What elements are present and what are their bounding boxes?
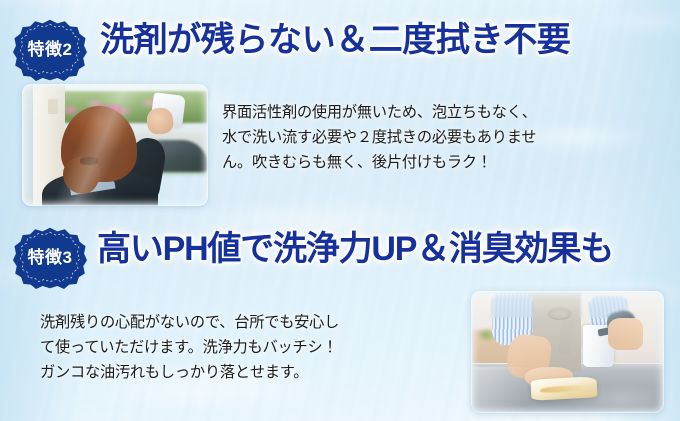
photo2-depth-blur	[471, 291, 664, 318]
kitchen-cleaning-photo	[471, 291, 664, 413]
feature-section-3: 特徴3 高いPH値で洗浄力UP＆消臭効果も 洗剤残りの心配がないので、台所でも安…	[0, 0, 680, 421]
photo2-right-arm	[608, 318, 643, 350]
feature-badge-2-label: 特徴2	[28, 41, 73, 58]
feature-badge-3: 特徴3	[13, 227, 87, 289]
feature-3-headline: 高いPH値で洗浄力UP＆消臭効果も	[97, 232, 613, 266]
photo2-counter-sheen	[471, 367, 664, 413]
feature-badge-3-label: 特徴3	[28, 249, 73, 266]
feature-poster: 特徴2 洗剤が残らない＆二度拭き不要 界面活性剤の使用が無いため、泡立ちもなく、…	[0, 0, 680, 421]
feature-3-body-text: 洗剤残りの心配がないので、台所でも安心し て使っていただけます。洗浄力もバッチシ…	[40, 310, 460, 385]
